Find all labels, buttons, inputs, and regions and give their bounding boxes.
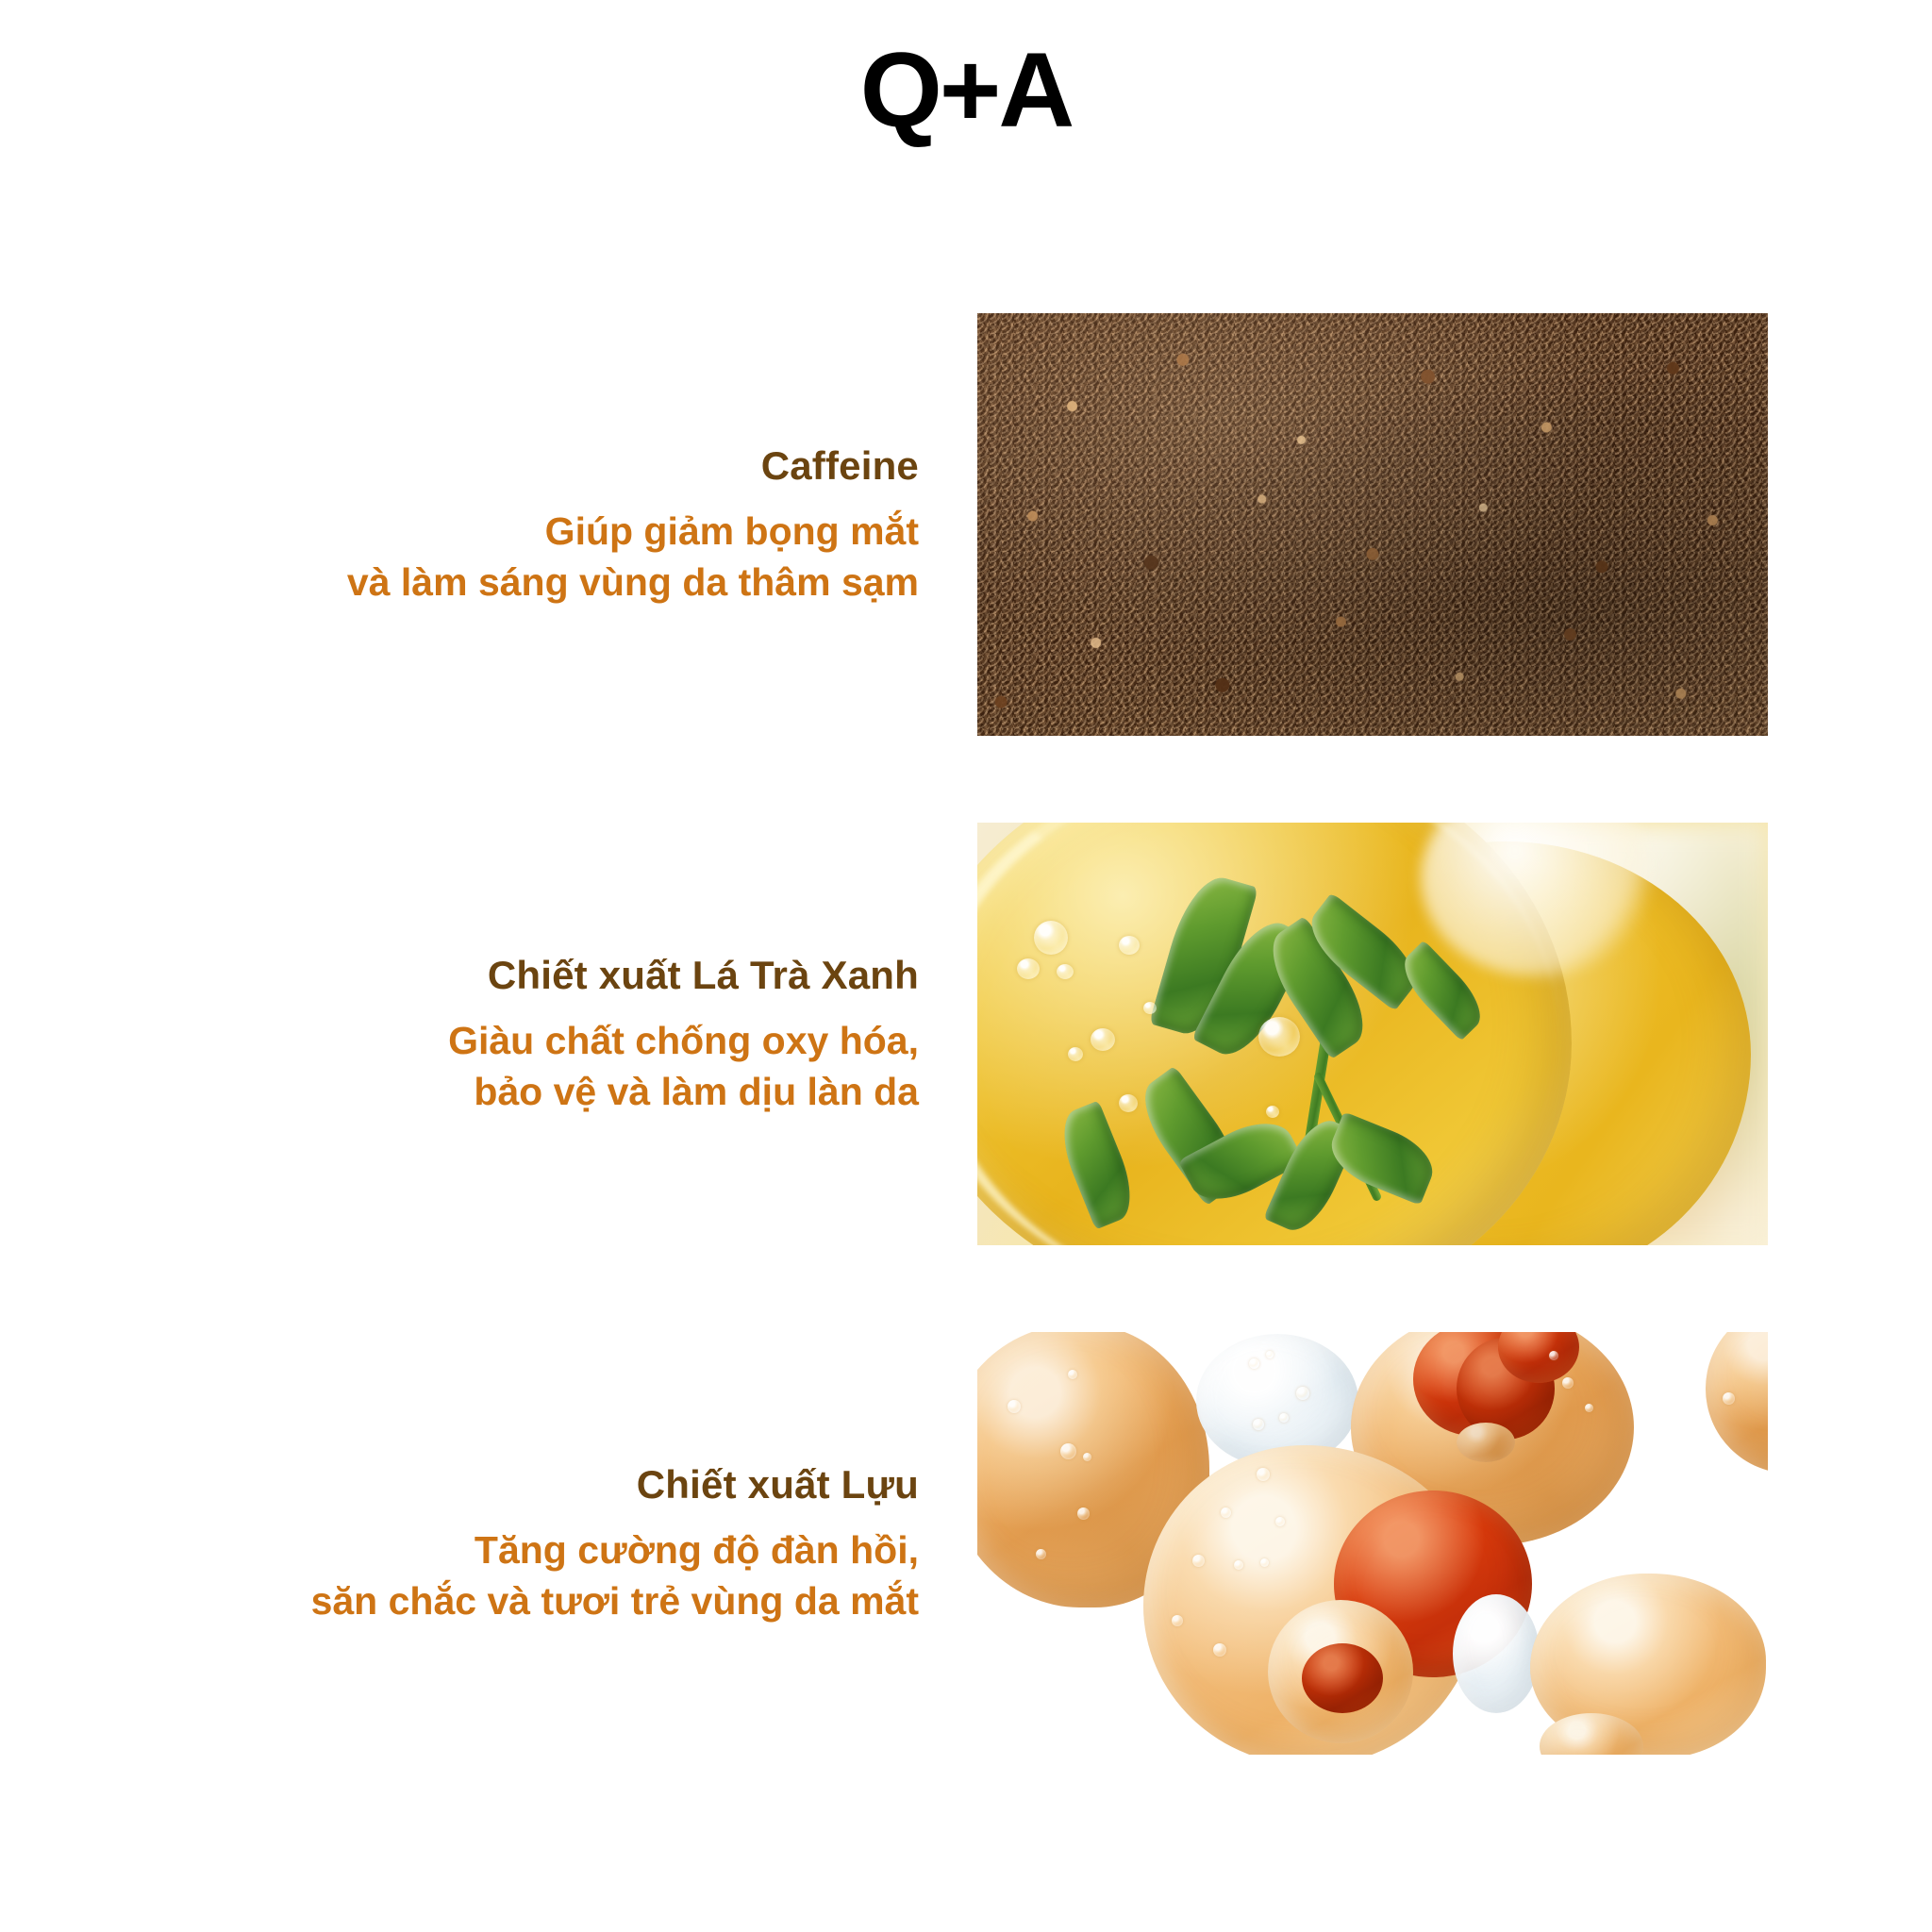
ingredient-row: Chiết xuất Lựu Tăng cường độ đàn hồi, să… xyxy=(0,1332,1932,1755)
gel-bubble xyxy=(1234,1560,1243,1570)
oil-bubble xyxy=(1143,1002,1157,1014)
oil-bubble xyxy=(1091,1028,1115,1051)
gel-bubble xyxy=(1275,1517,1285,1526)
gel-bubble xyxy=(1213,1643,1226,1657)
gel-bubble xyxy=(1260,1558,1269,1567)
green-tea-oil-image xyxy=(977,823,1768,1245)
gel-bubble xyxy=(1249,1358,1259,1369)
ingredient-image-column xyxy=(970,1332,1932,1755)
ingredient-name: Chiết xuất Lựu xyxy=(0,1460,919,1510)
ingredient-description: Tăng cường độ đàn hồi, săn chắc và tươi … xyxy=(0,1524,919,1626)
oil-bubble xyxy=(1258,1017,1300,1057)
gel-bubble xyxy=(1549,1351,1558,1360)
gel-bubble xyxy=(1060,1443,1076,1459)
oil-bubble xyxy=(1068,1047,1083,1061)
oil-bubble xyxy=(1034,921,1068,955)
oil-bubble xyxy=(1119,1094,1138,1112)
gel-spheres-image xyxy=(977,1332,1768,1755)
gel-bubble xyxy=(1068,1370,1077,1379)
gel-bubble xyxy=(1723,1392,1735,1405)
gel-bubble xyxy=(1172,1615,1183,1626)
ingredient-image-column xyxy=(970,823,1932,1245)
gel-bubble xyxy=(1253,1419,1264,1430)
ingredient-name: Chiết xuất Lá Trà Xanh xyxy=(0,951,919,1001)
gel-bubble xyxy=(1562,1377,1574,1389)
gel-bubble xyxy=(1008,1400,1021,1413)
coffee-grounds-image xyxy=(977,313,1768,736)
oil-bubble xyxy=(1057,964,1074,979)
gel-bubble xyxy=(1077,1507,1090,1520)
oil-bubble xyxy=(1017,958,1040,979)
oil-bubble xyxy=(1119,936,1140,955)
gel-bubble xyxy=(1192,1555,1205,1567)
gel-bubble xyxy=(1221,1507,1231,1518)
gel-bubble xyxy=(1296,1387,1309,1400)
pomegranate-core-small xyxy=(1302,1643,1383,1713)
gel-bubble xyxy=(1585,1404,1593,1412)
gel-sphere-small xyxy=(1457,1423,1515,1462)
oil-bubble xyxy=(1266,1106,1279,1118)
clear-sphere xyxy=(1453,1594,1540,1713)
ingredient-image-column xyxy=(970,313,1932,736)
gel-bubble xyxy=(1257,1468,1270,1481)
gel-bubble xyxy=(1266,1351,1274,1358)
gel-bubble xyxy=(1083,1453,1091,1461)
ingredient-text-block: Chiết xuất Lá Trà Xanh Giàu chất chống o… xyxy=(0,951,970,1118)
gel-bubble xyxy=(1279,1413,1289,1423)
ingredient-row: Chiết xuất Lá Trà Xanh Giàu chất chống o… xyxy=(0,823,1932,1245)
ingredient-description: Giúp giảm bọng mắt và làm sáng vùng da t… xyxy=(0,506,919,608)
ingredient-row: Caffeine Giúp giảm bọng mắt và làm sáng … xyxy=(0,313,1932,736)
gel-bubble xyxy=(1036,1549,1046,1559)
ingredient-text-block: Chiết xuất Lựu Tăng cường độ đàn hồi, să… xyxy=(0,1460,970,1627)
ingredient-text-block: Caffeine Giúp giảm bọng mắt và làm sáng … xyxy=(0,441,970,608)
ingredient-name: Caffeine xyxy=(0,441,919,491)
gel-sphere-partial xyxy=(1706,1332,1768,1474)
brand-logo: Q+A xyxy=(0,32,1932,148)
ingredient-description: Giàu chất chống oxy hóa, bảo vệ và làm d… xyxy=(0,1015,919,1117)
